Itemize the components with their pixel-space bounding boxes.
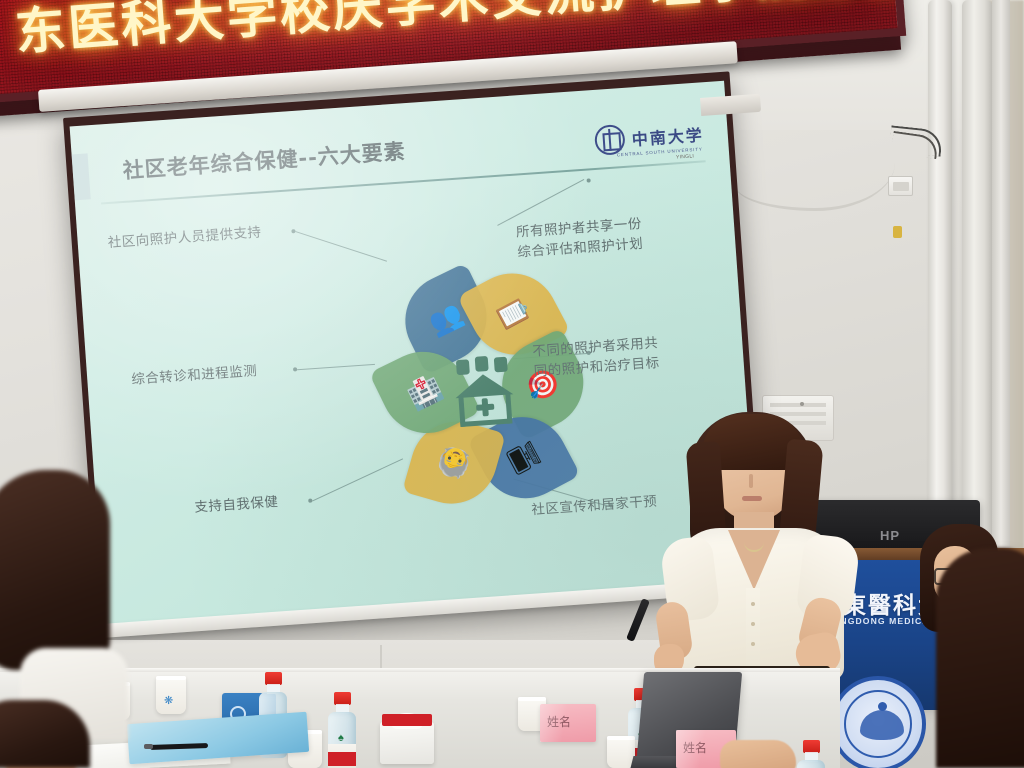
family-home-care-icon	[445, 354, 524, 431]
attendee-head-lower	[0, 700, 90, 768]
leader-dot-mid-left	[293, 367, 297, 371]
presenter-nose	[749, 474, 753, 488]
label-bottom-left: 支持自我保健	[194, 493, 279, 518]
wall-pipe-right	[962, 0, 992, 540]
leader-line-mid-left	[297, 364, 375, 371]
medical-cross-icon	[476, 398, 495, 417]
blouse-button-1	[751, 602, 755, 606]
attendee-head	[0, 470, 110, 670]
name-tent-text: 姓名	[547, 713, 571, 730]
wall-pipe-left	[928, 0, 952, 520]
blouse-button-3	[751, 642, 755, 646]
label-middle-left: 综合转诊和进程监测	[131, 362, 258, 390]
label-top-right: 所有照护者共享一份 综合评估和照护计划	[515, 215, 643, 263]
seal-emblem-dot	[878, 702, 887, 711]
audience-right-front	[936, 548, 1024, 768]
conference-room-photo: 东医科大学校庆学术交流护理学院分会场 YINGLI 社区老年综合保健--六大要素…	[0, 0, 1024, 768]
tissue-box-lid	[382, 714, 432, 726]
bottle-body	[797, 760, 825, 768]
leader-dot-top-left	[291, 229, 295, 233]
name-tent[interactable]: 姓名	[540, 704, 596, 742]
csu-name-cn: 中南大学	[631, 121, 705, 150]
bottle-leaf-icon: ♠	[338, 732, 344, 744]
wall-power-outlet[interactable]	[888, 176, 913, 196]
paper-cup[interactable]: ❋	[156, 676, 186, 714]
water-bottle[interactable]	[796, 740, 826, 768]
slide-edge-bar	[72, 153, 91, 200]
bottle-label	[328, 744, 356, 768]
cable-tag	[893, 226, 902, 238]
roller-brand-label: YINGLI	[676, 153, 695, 160]
monitor-brand-label: HP	[880, 528, 900, 543]
marker-pen-tip	[144, 744, 153, 749]
audience-front-left-lower	[0, 700, 102, 768]
leader-dot-top-right	[587, 178, 591, 182]
blouse-button-2	[751, 622, 755, 626]
university-logo: 中南大学 CENTRAL SOUTH UNIVERSITY	[594, 118, 705, 156]
label-middle-right: 不同的照护者采用共 同的照护和治疗目标	[532, 334, 660, 382]
six-elements-donut-diagram: 👥 📋 🎯 🖥 🧓 🏥	[377, 262, 590, 521]
slide-title: 社区老年综合保健--六大要素	[122, 135, 407, 185]
presenter-mouth	[742, 496, 762, 501]
leader-line-top-left	[295, 231, 387, 262]
cup-decoration-icon: ❋	[164, 694, 178, 708]
water-bottle[interactable]: ♠	[327, 692, 357, 768]
hand-on-laptop	[720, 740, 796, 768]
name-tent-text: 姓名	[683, 739, 707, 756]
audience-front-hair	[936, 548, 1024, 768]
label-top-left: 社区向照护人员提供支持	[107, 223, 262, 253]
tissue-box[interactable]	[380, 722, 434, 764]
family-heads-icon	[456, 355, 509, 375]
wall-pipe-far-right	[992, 0, 1010, 560]
